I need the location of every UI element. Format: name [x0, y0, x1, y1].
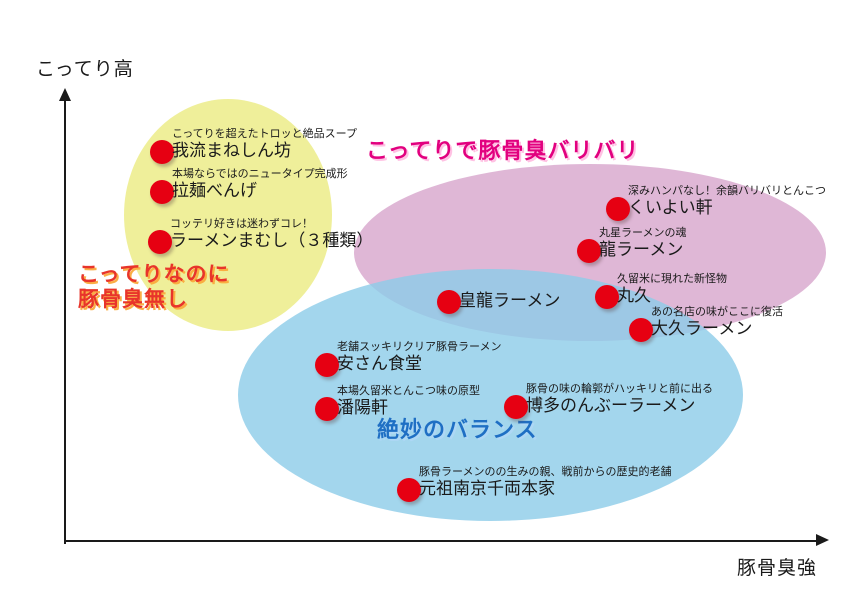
data-point-dot-icon [150, 140, 174, 164]
data-point-label: 豚骨の味の輪郭がハッキリと前に出る博多のんぶーラーメン [526, 382, 713, 417]
data-point-label: 皇龍ラーメン [459, 291, 560, 312]
data-point-subtitle: 久留米に現れた新怪物 [617, 272, 727, 286]
data-point-dot-icon [577, 239, 601, 263]
data-point-dot-icon [437, 290, 461, 314]
data-point-label: 豚骨ラーメンのの生みの親、戦前からの歴史的老舗元祖南京千両本家 [419, 465, 672, 500]
data-point-name: 我流まねしん坊 [172, 141, 357, 162]
data-point-subtitle: 丸星ラーメンの魂 [599, 226, 687, 240]
y-axis-label: こってり高 [36, 54, 134, 81]
data-point-label: 久留米に現れた新怪物丸久 [617, 272, 727, 307]
data-point-label: あの名店の味がここに復活大久ラーメン [651, 305, 783, 340]
data-point-dot-icon [595, 285, 619, 309]
y-axis-arrow-icon [59, 88, 71, 101]
data-point-label: 老舗スッキリクリア豚骨ラーメン安さん食堂 [337, 340, 502, 375]
data-point-name: 安さん食堂 [337, 354, 502, 375]
data-point-subtitle: 豚骨の味の輪郭がハッキリと前に出る [526, 382, 713, 396]
x-axis-label: 豚骨臭強 [737, 553, 817, 580]
data-point-name: 博多のんぶーラーメン [526, 396, 713, 417]
data-point-name: 元祖南京千両本家 [419, 479, 672, 500]
region-title-strong-pork-smell: こってりで豚骨臭バリバリ [366, 139, 639, 165]
data-point-subtitle: こってりを超えたトロッと絶品スープ [172, 127, 357, 141]
data-point-subtitle: あの名店の味がここに復活 [651, 305, 783, 319]
data-point-name: ラーメンまむし（３種類） [170, 231, 373, 252]
data-point-name: 皇龍ラーメン [459, 291, 560, 312]
region-title-balanced: 絶妙のバランス [377, 418, 538, 444]
data-point-name: 拉麺べんげ [172, 181, 348, 202]
ramen-positioning-chart: こってり高 豚骨臭強 こってりなのに 豚骨臭無し こってりで豚骨臭バリバリ 絶妙… [0, 0, 842, 595]
data-point-dot-icon [397, 478, 421, 502]
data-point-name: くいよい軒 [628, 198, 826, 219]
data-point-subtitle: 本場久留米とんこつ味の原型 [337, 384, 480, 398]
region-title-no-pork-smell: こってりなのに 豚骨臭無し [78, 262, 229, 312]
data-point-label: 丸星ラーメンの魂龍ラーメン [599, 226, 687, 261]
data-point-dot-icon [315, 397, 339, 421]
data-point-label: こってりを超えたトロッと絶品スープ我流まねしん坊 [172, 127, 357, 162]
data-point-subtitle: 深みハンパなし！余韻バリバリとんこつ [628, 184, 826, 198]
data-point-label: コッテリ好きは迷わずコレ！ラーメンまむし（３種類） [170, 217, 373, 252]
data-point-dot-icon [629, 318, 653, 342]
data-point-name: 龍ラーメン [599, 240, 687, 261]
data-point-dot-icon [315, 353, 339, 377]
data-point-subtitle: 豚骨ラーメンのの生みの親、戦前からの歴史的老舗 [419, 465, 672, 479]
data-point-dot-icon [150, 180, 174, 204]
data-point-name: 丸久 [617, 286, 727, 307]
x-axis-arrow-icon [816, 534, 829, 546]
data-point-subtitle: 本場ならではのニュータイプ完成形 [172, 167, 348, 181]
data-point-dot-icon [504, 395, 528, 419]
data-point-dot-icon [606, 197, 630, 221]
data-point-name: 潘陽軒 [337, 398, 480, 419]
y-axis-line [64, 98, 66, 544]
data-point-name: 大久ラーメン [651, 319, 783, 340]
data-point-subtitle: 老舗スッキリクリア豚骨ラーメン [337, 340, 502, 354]
data-point-dot-icon [148, 230, 172, 254]
data-point-label: 深みハンパなし！余韻バリバリとんこつくいよい軒 [628, 184, 826, 219]
x-axis-line [64, 540, 824, 542]
data-point-label: 本場久留米とんこつ味の原型潘陽軒 [337, 384, 480, 419]
data-point-label: 本場ならではのニュータイプ完成形拉麺べんげ [172, 167, 348, 202]
data-point-subtitle: コッテリ好きは迷わずコレ！ [170, 217, 373, 231]
